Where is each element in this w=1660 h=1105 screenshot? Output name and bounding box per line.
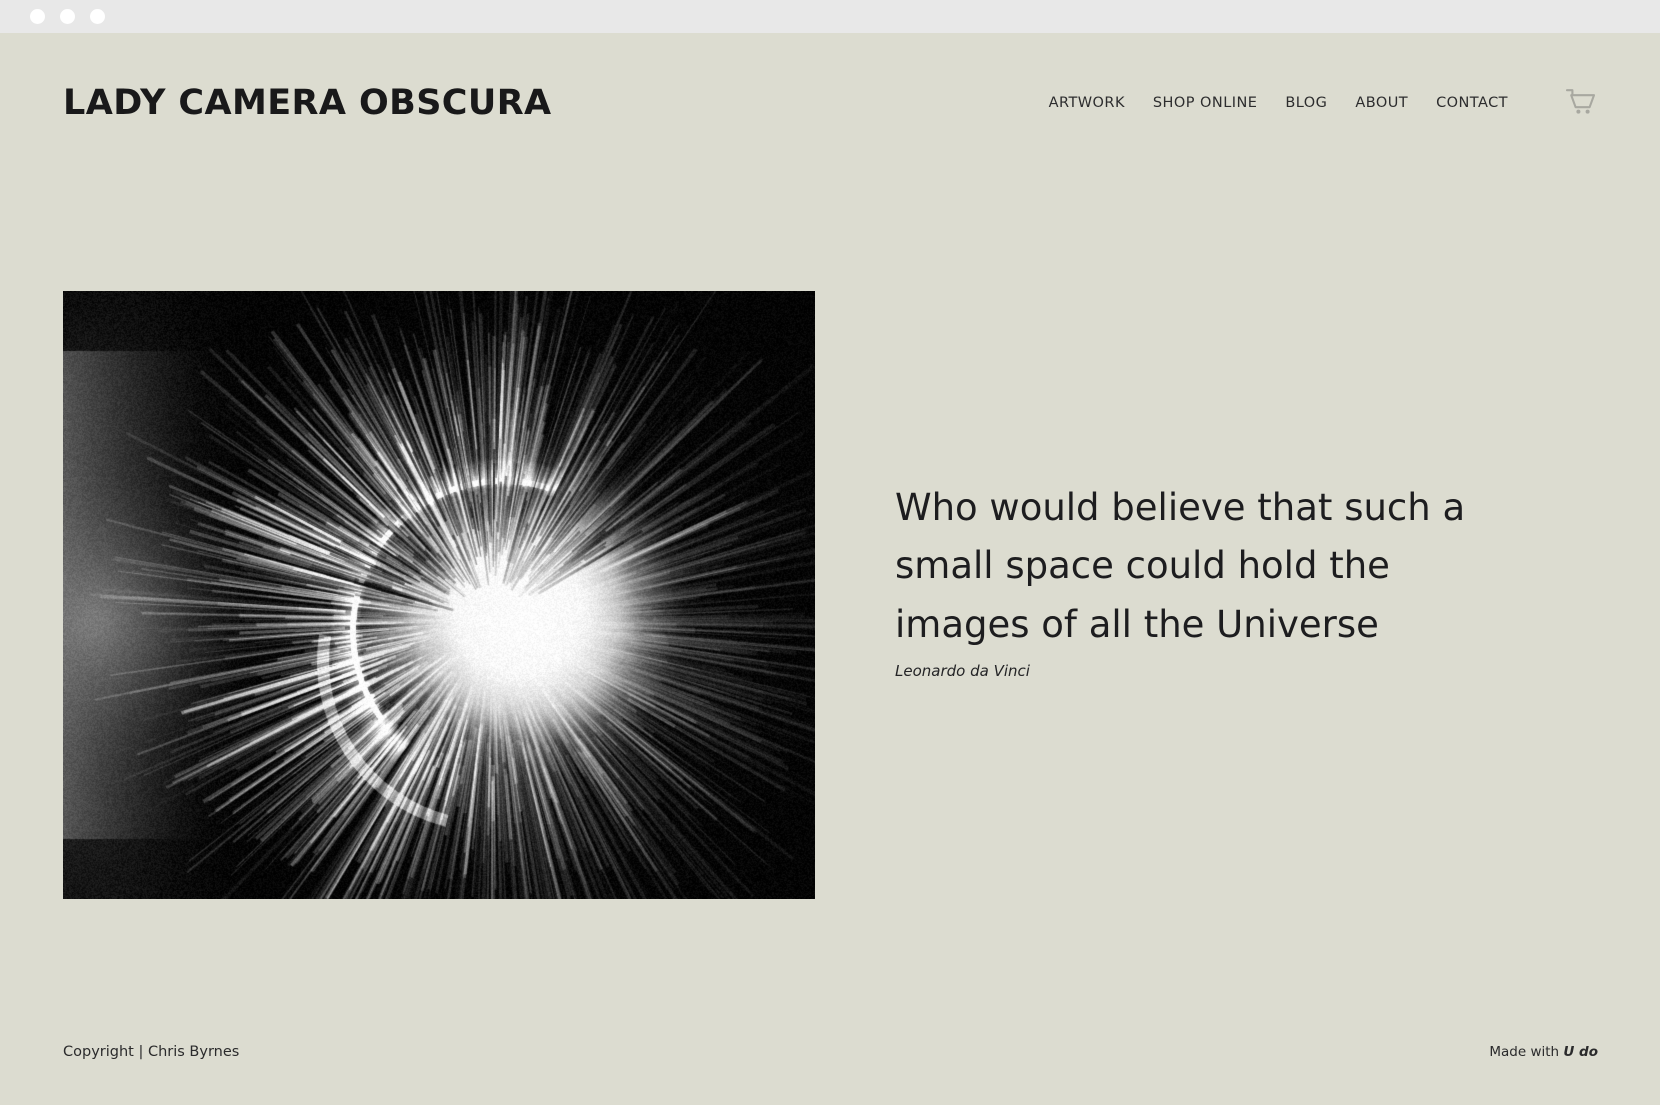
page-root: LADY CAMERA OBSCURA ARTWORK SHOP ONLINE … [0, 33, 1660, 1105]
window-controls [30, 9, 105, 24]
quote-author: Leonardo da Vinci [895, 662, 1515, 680]
hero-quote: Who would believe that such a small spac… [895, 479, 1515, 680]
window-minimize-dot[interactable] [60, 9, 75, 24]
made-with-prefix: Made with [1489, 1044, 1563, 1060]
camera-obscura-artwork[interactable] [63, 291, 815, 899]
header-right-group: ARTWORK SHOP ONLINE BLOG ABOUT CONTACT [1035, 87, 1598, 120]
artwork-canvas [63, 291, 815, 899]
nav-item-contact[interactable]: CONTACT [1422, 95, 1522, 111]
shopping-cart-icon [1564, 87, 1598, 120]
browser-titlebar [0, 0, 1660, 33]
quote-text: Who would believe that such a small spac… [895, 479, 1515, 654]
nav-item-blog[interactable]: BLOG [1271, 95, 1341, 111]
site-footer: Copyright | Chris Byrnes Made with U do [0, 1041, 1660, 1063]
nav-item-about[interactable]: ABOUT [1341, 95, 1422, 111]
nav-item-artwork[interactable]: ARTWORK [1035, 95, 1139, 111]
nav-item-shop-online[interactable]: SHOP ONLINE [1139, 95, 1271, 111]
cart-button[interactable] [1564, 87, 1598, 120]
copyright-text: Copyright | Chris Byrnes [63, 1044, 239, 1060]
window-maximize-dot[interactable] [90, 9, 105, 24]
main-content: Who would believe that such a small spac… [0, 173, 1660, 1105]
window-close-dot[interactable] [30, 9, 45, 24]
site-header: LADY CAMERA OBSCURA ARTWORK SHOP ONLINE … [0, 33, 1660, 173]
main-navigation: ARTWORK SHOP ONLINE BLOG ABOUT CONTACT [1035, 95, 1522, 111]
made-with-credit[interactable]: Made with U do [1489, 1044, 1598, 1060]
page-title[interactable]: LADY CAMERA OBSCURA [63, 86, 552, 121]
made-with-brand: U do [1563, 1044, 1598, 1060]
